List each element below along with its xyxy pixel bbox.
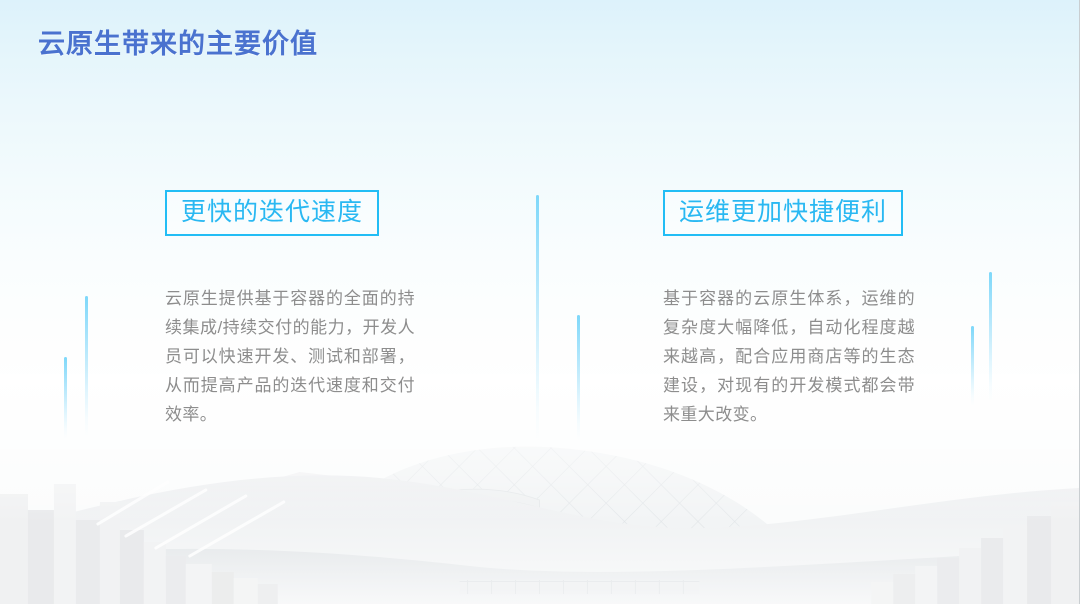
background-terrain-artwork [0, 374, 1079, 604]
decor-rule-right-short [971, 326, 974, 406]
value-heading-left: 更快的迭代速度 [165, 190, 379, 236]
value-body-right: 基于容器的云原生体系，运维的复杂度大幅降低，自动化程度越来越高，配合应用商店等的… [663, 284, 915, 429]
slide-canvas: 云原生带来的主要价值 更快的迭代速度 云原生提供基于容器的全面的持续集成/持续交… [0, 0, 1080, 604]
decor-rule-mid-short [577, 315, 580, 440]
decor-rule-left-inner [85, 296, 88, 436]
decor-rule-left-outer [64, 357, 67, 439]
decor-rule-mid-tall [536, 195, 539, 440]
value-column-right: 运维更加快捷便利 基于容器的云原生体系，运维的复杂度大幅降低，自动化程度越来越高… [663, 190, 915, 429]
value-body-left: 云原生提供基于容器的全面的持续集成/持续交付的能力，开发人员可以快速开发、测试和… [165, 284, 415, 429]
value-column-left: 更快的迭代速度 云原生提供基于容器的全面的持续集成/持续交付的能力，开发人员可以… [165, 190, 415, 429]
page-title: 云原生带来的主要价值 [38, 22, 318, 61]
decor-rule-right-tall [989, 272, 992, 402]
value-heading-right: 运维更加快捷便利 [663, 190, 903, 236]
